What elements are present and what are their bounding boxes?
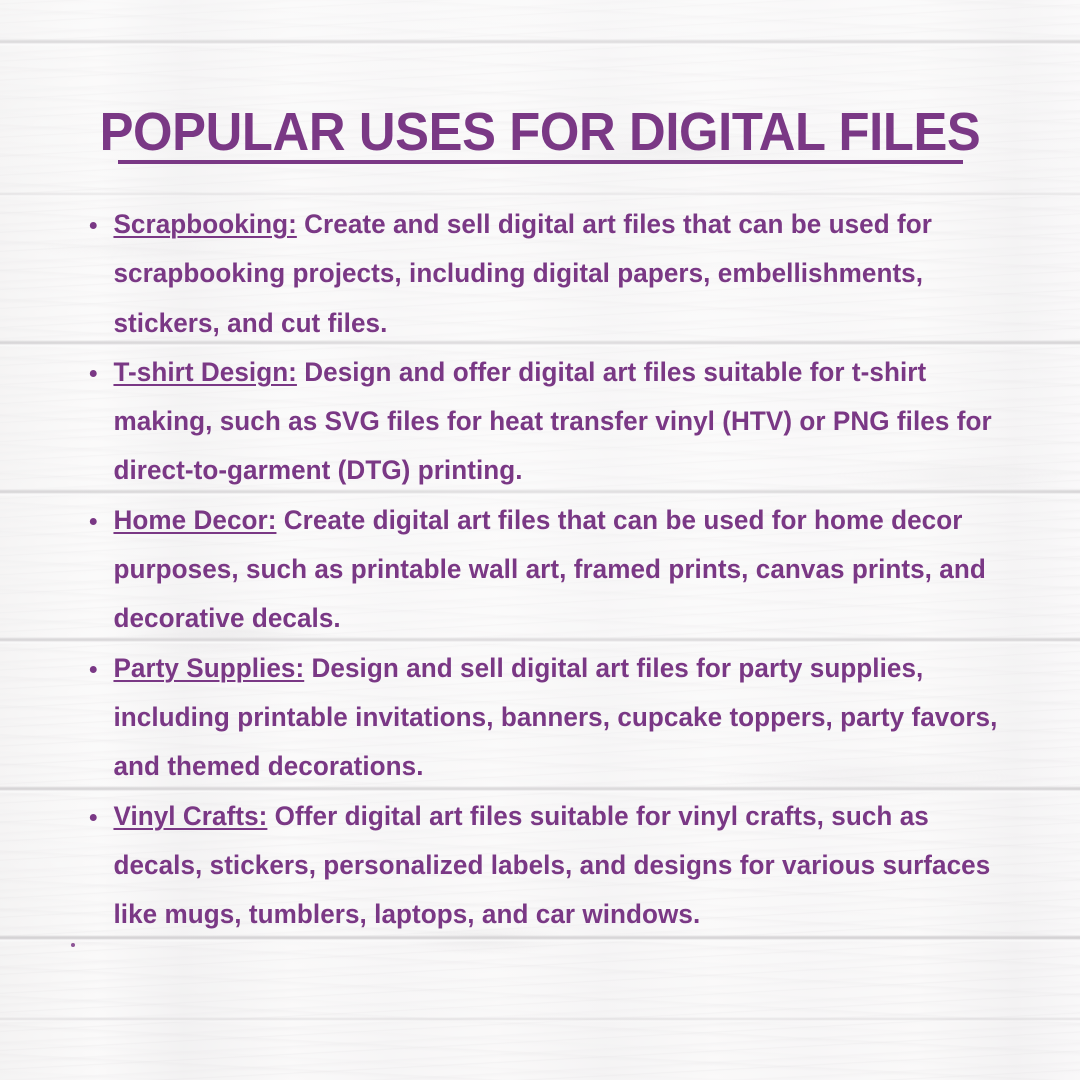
poster-content: POPULAR USES FOR DIGITAL FILES Scrapbook… [0, 0, 1080, 1080]
list-item: Party Supplies: Design and sell digital … [78, 644, 1014, 792]
list-item: Home Decor: Create digital art files tha… [78, 496, 1014, 644]
stray-dot-artifact [71, 943, 75, 947]
list-item: T-shirt Design: Design and offer digital… [78, 348, 1014, 496]
list-item-term: Scrapbooking: [113, 209, 296, 239]
list-item: Scrapbooking: Create and sell digital ar… [78, 200, 1014, 348]
list-item-term: Home Decor: [113, 505, 276, 535]
page-title-underline [118, 160, 963, 164]
list-item-term: Party Supplies: [113, 653, 304, 683]
poster-canvas: POPULAR USES FOR DIGITAL FILES Scrapbook… [0, 0, 1080, 1080]
uses-bullet-list: Scrapbooking: Create and sell digital ar… [78, 200, 1028, 939]
list-item-term: T-shirt Design: [113, 357, 296, 387]
page-title: POPULAR USES FOR DIGITAL FILES [32, 104, 1047, 161]
list-item-term: Vinyl Crafts: [113, 801, 267, 831]
list-item: Vinyl Crafts: Offer digital art files su… [78, 792, 1014, 940]
